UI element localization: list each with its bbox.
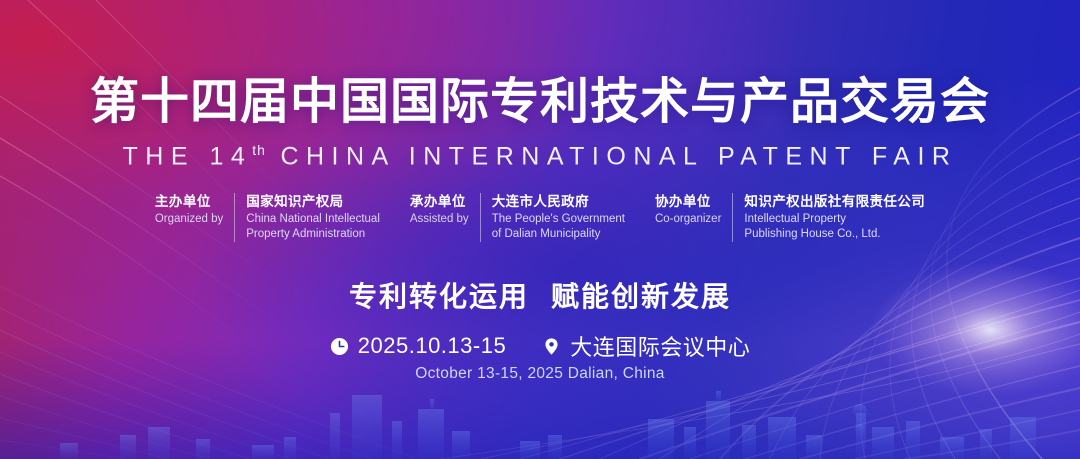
event-slogan: 专利转化运用赋能创新发展 — [0, 275, 1080, 315]
credit-block-assisted-by: 承办单位 Assisted by 大连市人民政府 The People's Go… — [410, 193, 625, 242]
credit-block-co-organizer: 协办单位 Co-organizer 知识产权出版社有限责任公司 Intellec… — [655, 193, 925, 242]
credit-org: 大连市人民政府 The People's Government of Dalia… — [492, 193, 625, 242]
credit-divider — [732, 193, 733, 242]
credit-org: 知识产权出版社有限责任公司 Intellectual Property Publ… — [744, 193, 925, 242]
credit-org-en-line1: Intellectual Property — [744, 212, 925, 227]
page-title-english: THE 14th CHINA INTERNATIONAL PATENT FAIR — [0, 143, 1080, 169]
title-en-prefix: THE 14 — [123, 142, 253, 170]
slogan-part-1: 专利转化运用 — [349, 281, 529, 312]
event-banner: 第十四届中国国际专利技术与产品交易会 THE 14th CHINA INTERN… — [0, 0, 1080, 459]
credit-label-cn: 主办单位 — [155, 194, 223, 211]
credit-block-organizer: 主办单位 Organized by 国家知识产权局 China National… — [155, 193, 380, 242]
organizer-credits: 主办单位 Organized by 国家知识产权局 China National… — [0, 193, 1080, 242]
page-title: 第十四届中国国际专利技术与产品交易会 — [0, 78, 1080, 127]
credit-label-en: Organized by — [155, 212, 223, 226]
credit-org-cn: 知识产权出版社有限责任公司 — [744, 193, 925, 211]
slogan-part-2: 赋能创新发展 — [551, 281, 731, 312]
credit-org-en-line2: Property Administration — [246, 227, 380, 242]
event-date: 2025.10.13-15 — [330, 333, 506, 359]
credit-divider — [234, 193, 235, 242]
credit-org-en-line2: Publishing House Co., Ltd. — [744, 227, 925, 242]
credit-org-en-line1: The People's Government — [492, 212, 625, 227]
event-meta: 2025.10.13-15 大连国际会议中心 — [0, 330, 1080, 362]
credit-divider — [480, 193, 481, 242]
credit-label-cn: 协办单位 — [655, 194, 721, 211]
credit-org: 国家知识产权局 China National Intellectual Prop… — [246, 193, 380, 242]
credit-org-cn: 国家知识产权局 — [246, 193, 380, 211]
credit-label: 承办单位 Assisted by — [410, 193, 469, 226]
title-en-suffix: CHINA INTERNATIONAL PATENT FAIR — [280, 142, 957, 170]
credit-label: 协办单位 Co-organizer — [655, 193, 721, 226]
map-pin-icon — [542, 337, 561, 356]
clock-icon — [330, 337, 349, 356]
event-venue-text: 大连国际会议中心 — [570, 330, 750, 362]
event-date-text: 2025.10.13-15 — [358, 333, 506, 359]
event-venue: 大连国际会议中心 — [542, 330, 750, 362]
credit-org-cn: 大连市人民政府 — [492, 193, 625, 211]
credit-label-cn: 承办单位 — [410, 194, 469, 211]
credit-org-en-line2: of Dalian Municipality — [492, 227, 625, 242]
credit-org-en-line1: China National Intellectual — [246, 212, 380, 227]
credit-label: 主办单位 Organized by — [155, 193, 223, 226]
credit-label-en: Co-organizer — [655, 212, 721, 226]
event-meta-english: October 13-15, 2025 Dalian, China — [0, 365, 1080, 383]
title-en-ordinal: th — [252, 142, 266, 158]
credit-label-en: Assisted by — [410, 212, 469, 226]
